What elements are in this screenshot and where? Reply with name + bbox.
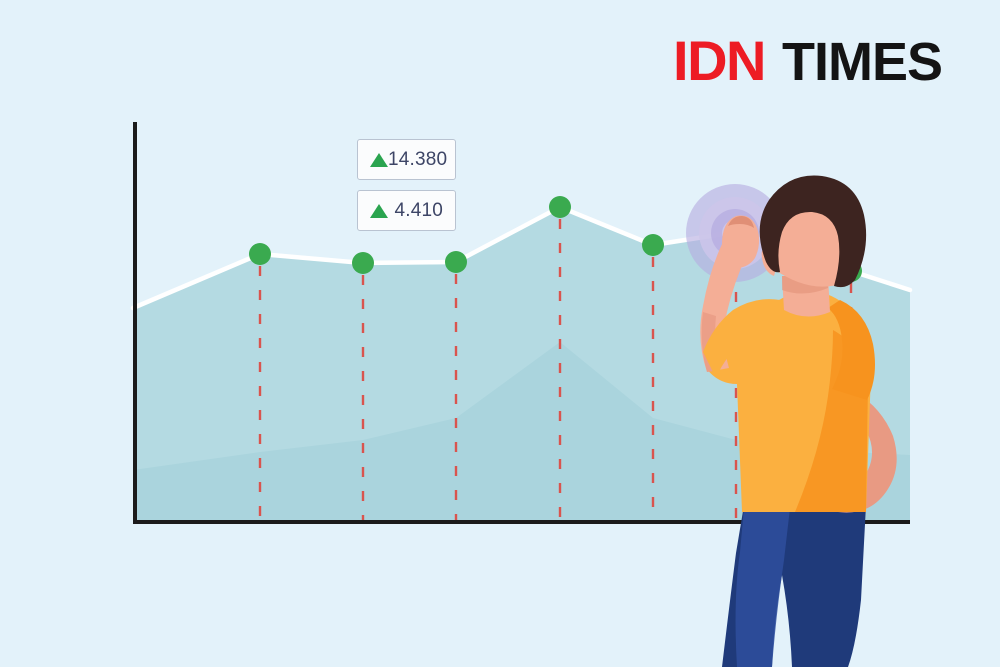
chart-tooltip-1[interactable]: 14.380 <box>357 139 456 180</box>
chart-marker[interactable] <box>249 243 271 265</box>
chart-marker[interactable] <box>642 234 664 256</box>
logo-idn-text: IDN <box>673 28 765 93</box>
logo-times-text: TIMES <box>782 31 942 93</box>
tooltip-value: 14.380 <box>388 149 447 171</box>
triangle-up-icon <box>370 153 388 167</box>
chart-tooltip-2[interactable]: 4.410 <box>357 190 456 231</box>
triangle-up-icon <box>370 204 388 218</box>
brand-logo: IDN TIMES <box>673 28 942 93</box>
tooltip-value: 4.410 <box>388 200 443 222</box>
area-chart <box>0 0 1000 667</box>
chart-marker[interactable] <box>840 260 862 282</box>
chart-marker[interactable] <box>445 251 467 273</box>
chart-marker[interactable] <box>549 196 571 218</box>
chart-marker[interactable] <box>352 252 374 274</box>
infographic-canvas: 14.380 4.410 IDN TIMES <box>0 0 1000 667</box>
